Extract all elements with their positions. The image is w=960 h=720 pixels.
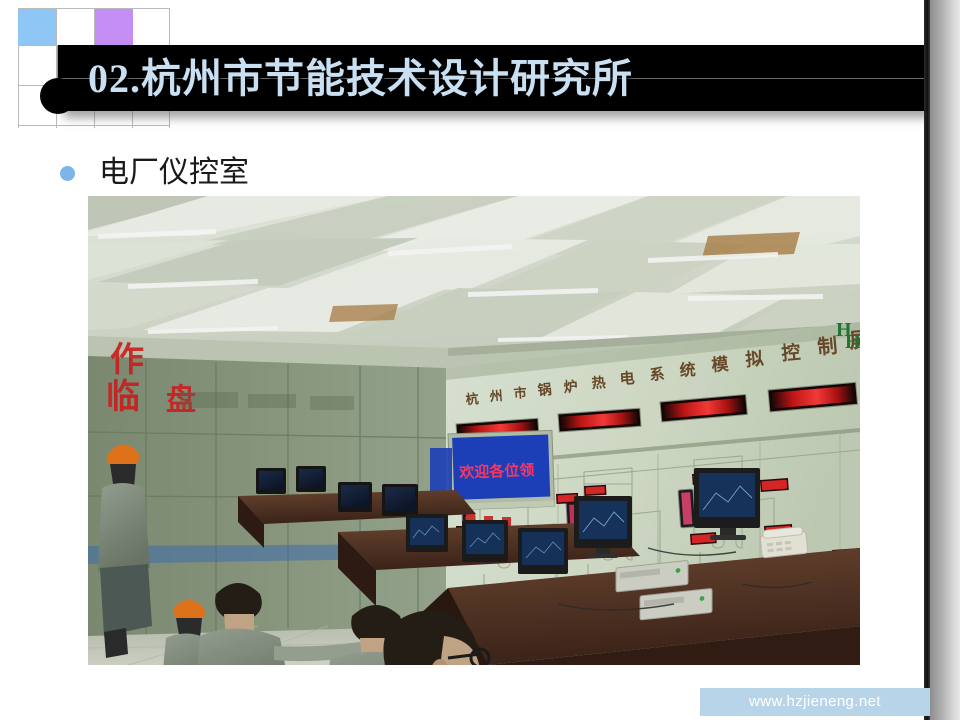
decorative-square-blue: [18, 9, 56, 45]
footer-url[interactable]: www.hzjieneng.net: [700, 688, 930, 716]
right-edge-gradient: [930, 0, 960, 720]
control-room-photo: 作 临 盘: [88, 196, 860, 665]
bullet-item-0: 电厂仪控室: [60, 152, 249, 194]
decorative-circle: [40, 78, 76, 114]
decorative-square-purple: [95, 9, 133, 45]
bullet-label: 电厂仪控室: [99, 152, 249, 194]
bullet-dot-icon: [60, 166, 75, 181]
page-title: 02.杭州市节能技术设计研究所: [88, 50, 918, 108]
footer-bar: www.hzjieneng.net: [700, 688, 930, 716]
slide-canvas: 02.杭州市节能技术设计研究所 电厂仪控室: [0, 0, 960, 720]
